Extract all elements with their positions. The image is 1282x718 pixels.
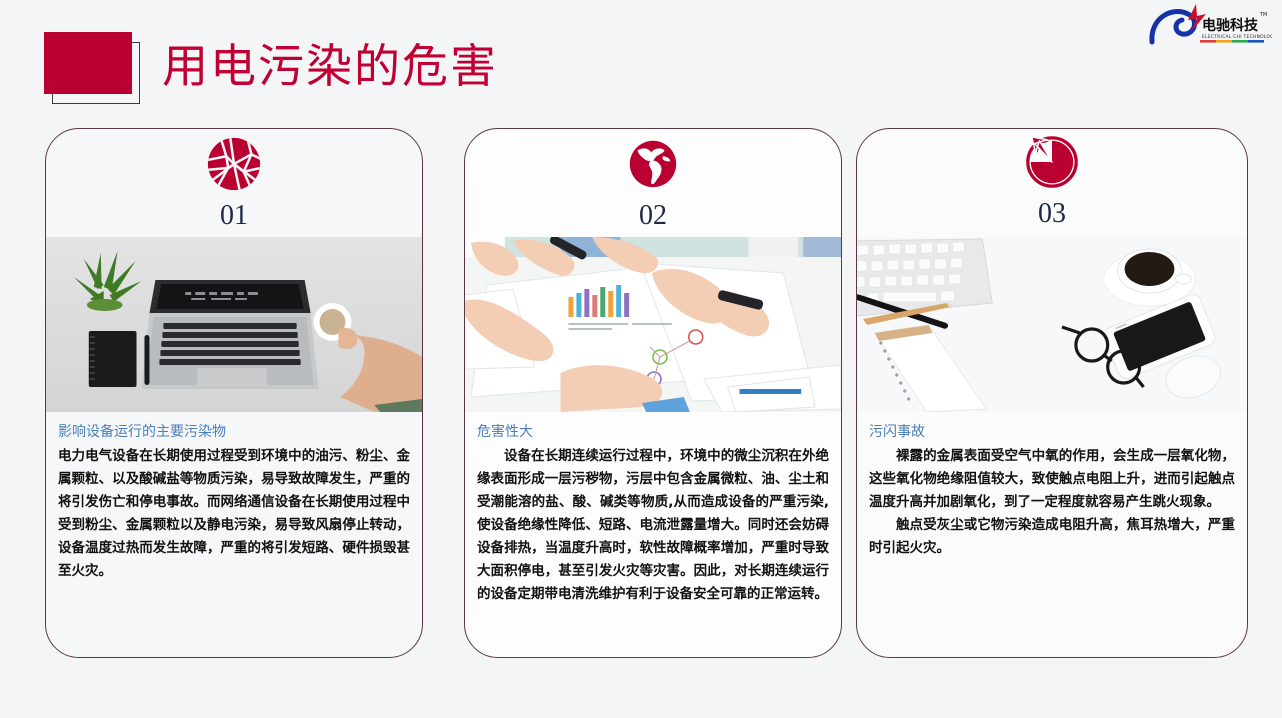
card-02-paragraph-1: 设备在长期连续运行过程中，环境中的微尘沉积在外绝缘表面形成一层污秽物，污层中包含… <box>477 445 829 606</box>
card-03-photo <box>857 237 1247 412</box>
card-02-header: 02 <box>465 129 841 237</box>
globe-americas-icon <box>624 135 682 193</box>
card-03-paragraph-2: 触点受灰尘或它物污染造成电阻升高，焦耳热增大，严重时引起火灾。 <box>869 514 1235 560</box>
card-03[interactable]: 03 <box>856 128 1248 658</box>
card-03-number: 03 <box>857 198 1247 230</box>
card-01-subtitle: 影响设备运行的主要污染物 <box>58 422 410 442</box>
card-01[interactable]: 01 <box>45 128 423 658</box>
pie-arrow-icon <box>1023 133 1081 191</box>
card-02-photo <box>465 237 841 412</box>
card-01-badge: 01 <box>46 135 422 232</box>
cracked-globe-icon <box>205 135 263 193</box>
card-03-subtitle: 污闪事故 <box>869 422 1235 442</box>
card-03-paragraph-1: 裸露的金属表面受空气中氧的作用，会生成一层氧化物，这些氧化物绝缘阻值较大，致使触… <box>869 445 1235 514</box>
card-02-number: 02 <box>465 200 841 232</box>
card-list: 01 <box>0 0 1282 718</box>
card-01-photo <box>46 237 422 412</box>
card-01-paragraph-1: 电力电气设备在长期使用过程受到环境中的油污、粉尘、金属颗粒、以及酸碱盐等物质污染… <box>58 445 410 583</box>
card-02-body: 危害性大 设备在长期连续运行过程中，环境中的微尘沉积在外绝缘表面形成一层污秽物，… <box>465 412 841 606</box>
card-02-subtitle: 危害性大 <box>477 422 829 442</box>
card-02-badge: 02 <box>465 135 841 232</box>
card-01-number: 01 <box>46 200 422 232</box>
card-03-body: 污闪事故 裸露的金属表面受空气中氧的作用，会生成一层氧化物，这些氧化物绝缘阻值较… <box>857 412 1247 560</box>
card-03-badge: 03 <box>857 133 1247 230</box>
card-01-header: 01 <box>46 129 422 237</box>
card-02[interactable]: 02 <box>464 128 842 658</box>
card-01-body: 影响设备运行的主要污染物 电力电气设备在长期使用过程受到环境中的油污、粉尘、金属… <box>46 412 422 583</box>
card-03-header: 03 <box>857 129 1247 237</box>
